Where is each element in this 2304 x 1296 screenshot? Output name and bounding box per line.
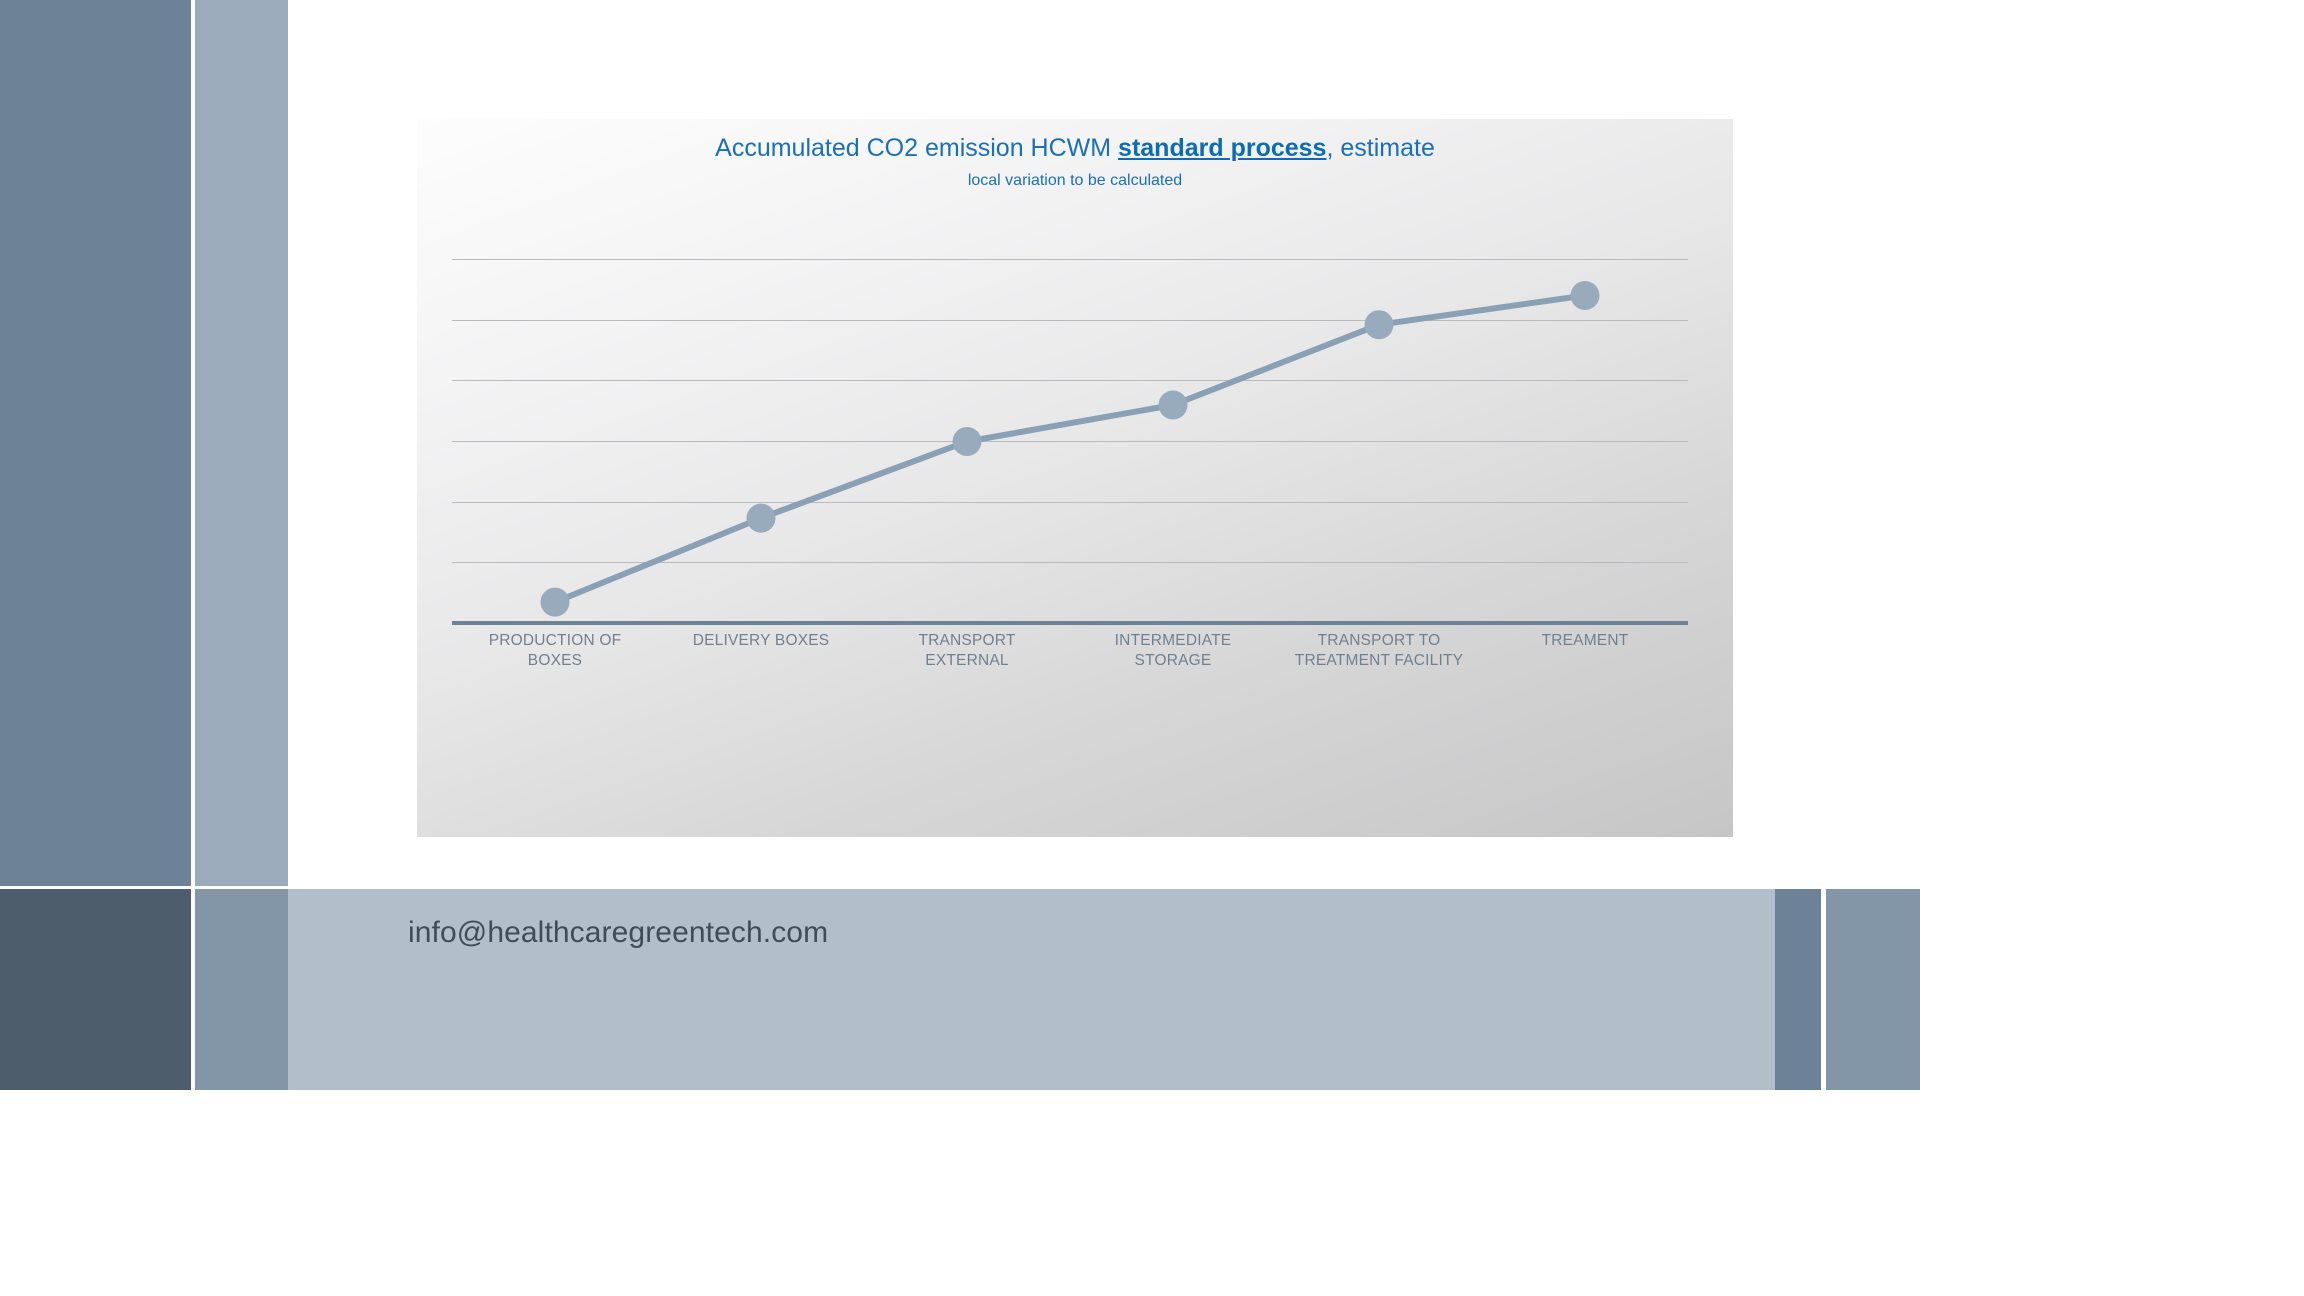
footer-accent-band-mid bbox=[1826, 889, 1920, 1090]
x-axis-label-line: PRODUCTION OF bbox=[452, 631, 658, 651]
x-axis-label-line: TRANSPORT bbox=[864, 631, 1070, 651]
x-axis-label-line: BOXES bbox=[452, 651, 658, 671]
footer-accent-band-dark bbox=[1775, 889, 1821, 1090]
x-axis-label: DELIVERY BOXES bbox=[658, 631, 864, 651]
chart-panel: Accumulated CO2 emission HCWM standard p… bbox=[417, 119, 1733, 837]
data-point-marker: PRODUCTION OF BOXES: 6 bbox=[541, 588, 570, 617]
chart-title-before: Accumulated CO2 emission HCWM bbox=[715, 134, 1118, 162]
chart-title-after: , estimate bbox=[1326, 134, 1434, 162]
line-series: PRODUCTION OF BOXES: 6DELIVERY BOXES: 29… bbox=[452, 259, 1688, 624]
x-axis-label-line: INTERMEDIATE bbox=[1070, 631, 1276, 651]
data-point-marker: DELIVERY BOXES: 29 bbox=[747, 504, 776, 533]
footer-band-dark bbox=[0, 889, 191, 1090]
left-accent-band-light bbox=[195, 0, 288, 886]
x-axis-label-line: TREATMENT FACILITY bbox=[1276, 651, 1482, 671]
x-axis-label-line: STORAGE bbox=[1070, 651, 1276, 671]
footer-band-mid bbox=[195, 889, 288, 1090]
data-point-marker: TREAMENT: 90 bbox=[1571, 281, 1600, 310]
chart-title-emphasis: standard process bbox=[1118, 134, 1326, 162]
x-axis-label: INTERMEDIATESTORAGE bbox=[1070, 631, 1276, 671]
left-accent-band-dark bbox=[0, 0, 191, 886]
x-axis-label: PRODUCTION OFBOXES bbox=[452, 631, 658, 671]
data-point-marker: TRANSPORT EXTERNAL: 50 bbox=[953, 427, 982, 456]
data-point-marker: INTERMEDIATE STORAGE: 60 bbox=[1159, 391, 1188, 420]
x-axis-line bbox=[452, 621, 1688, 625]
x-axis-category-labels: PRODUCTION OFBOXESDELIVERY BOXESTRANSPOR… bbox=[452, 631, 1688, 691]
x-axis-label: TRANSPORTEXTERNAL bbox=[864, 631, 1070, 671]
x-axis-label: TREAMENT bbox=[1482, 631, 1688, 651]
data-point-marker: TRANSPORT TO TREATMENT FACILITY: 82 bbox=[1365, 310, 1394, 339]
contact-email[interactable]: info@healthcaregreentech.com bbox=[408, 916, 828, 950]
x-axis-label-line: DELIVERY BOXES bbox=[658, 631, 864, 651]
x-axis-label: TRANSPORT TOTREATMENT FACILITY bbox=[1276, 631, 1482, 671]
plot-area: PRODUCTION OF BOXES: 6DELIVERY BOXES: 29… bbox=[452, 259, 1688, 624]
series-line bbox=[555, 296, 1585, 603]
x-axis-label-line: TREAMENT bbox=[1482, 631, 1688, 651]
x-axis-label-line: TRANSPORT TO bbox=[1276, 631, 1482, 651]
chart-title: Accumulated CO2 emission HCWM standard p… bbox=[417, 134, 1733, 163]
chart-subtitle: local variation to be calculated bbox=[417, 172, 1733, 190]
x-axis-label-line: EXTERNAL bbox=[864, 651, 1070, 671]
